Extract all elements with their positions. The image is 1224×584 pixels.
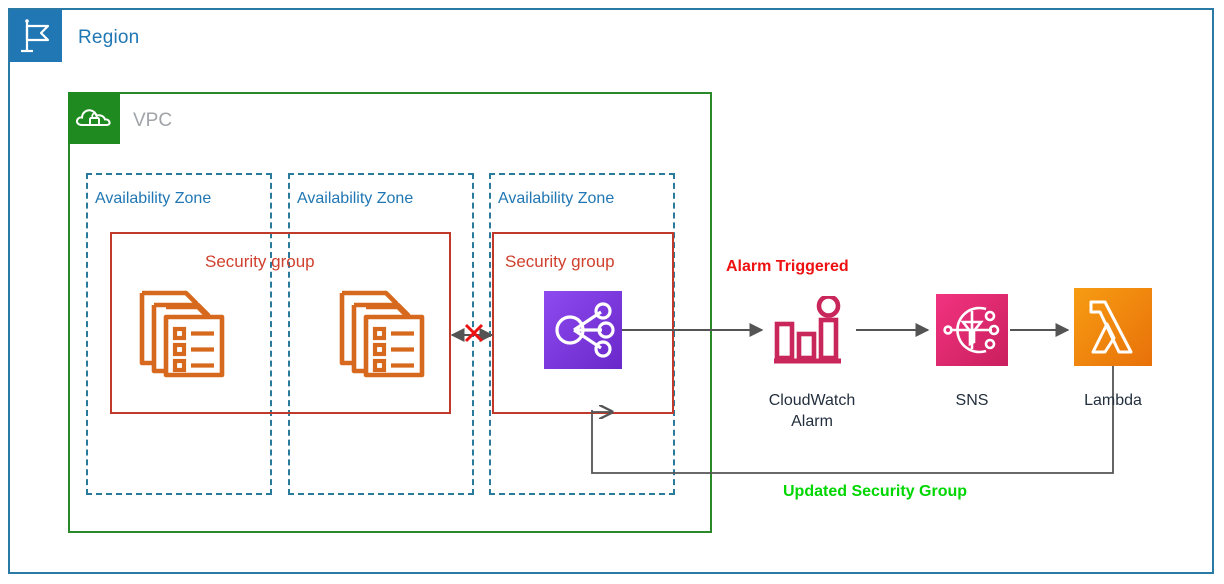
lambda-icon xyxy=(1074,288,1152,371)
flag-icon xyxy=(10,10,62,62)
sns-label: SNS xyxy=(912,390,1032,411)
cloudwatch-alarm-label: CloudWatch Alarm xyxy=(736,390,888,432)
vpc-cloud-lock-icon xyxy=(68,92,120,144)
sns-icon xyxy=(936,294,1008,371)
cloudwatch-alarm-icon xyxy=(771,296,851,373)
availability-zone-2-label: Availability Zone xyxy=(297,190,413,208)
updated-security-group-label: Updated Security Group xyxy=(783,483,967,501)
alarm-triggered-label: Alarm Triggered xyxy=(726,258,849,276)
availability-zone-1-label: Availability Zone xyxy=(95,190,211,208)
ec2-instances-icon xyxy=(336,281,428,386)
cloudwatch-alarm-label-line2: Alarm xyxy=(791,413,833,430)
vpc-label: VPC xyxy=(133,110,172,132)
region-label: Region xyxy=(78,27,139,49)
cloudwatch-alarm-label-line1: CloudWatch xyxy=(769,392,856,409)
architecture-diagram: Region VPC Availability Zone Availabilit… xyxy=(0,0,1224,584)
security-group-1-label: Security group xyxy=(205,252,315,272)
availability-zone-3-label: Availability Zone xyxy=(498,190,614,208)
security-group-2-label: Security group xyxy=(505,252,615,272)
network-hub-icon xyxy=(544,291,622,374)
ec2-instances-icon xyxy=(136,281,228,386)
lambda-label: Lambda xyxy=(1053,390,1173,411)
